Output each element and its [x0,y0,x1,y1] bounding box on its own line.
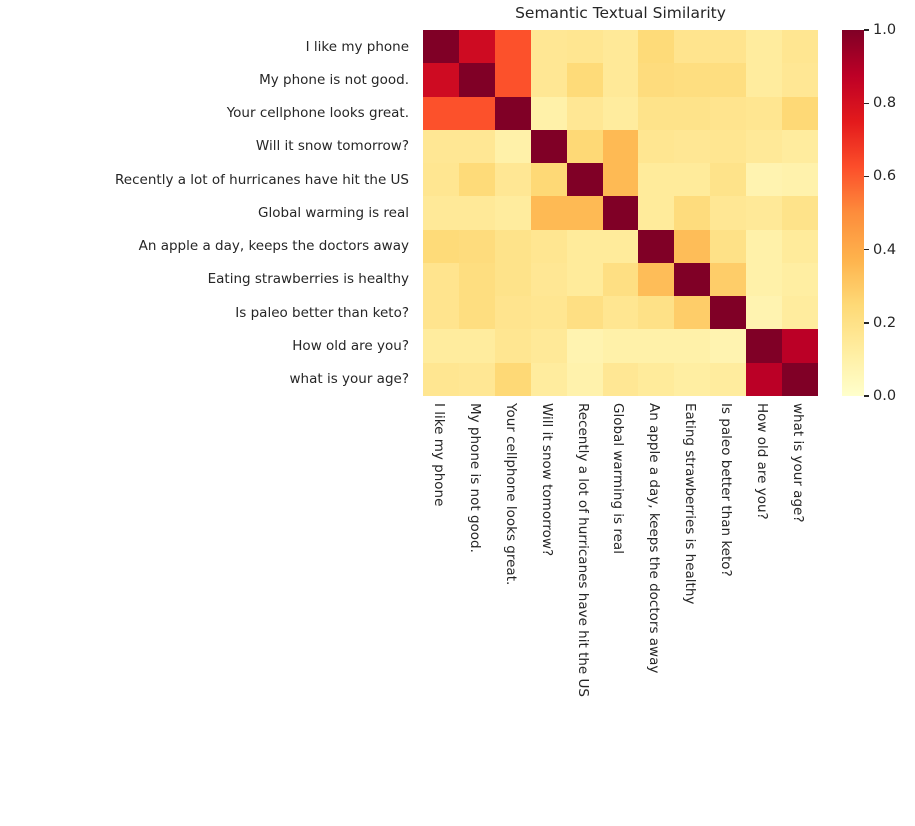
y-axis-tick-label: Global warming is real [0,196,416,229]
heatmap-cell[interactable] [603,163,639,196]
colorbar-tick-mark [864,176,869,177]
heatmap-cell[interactable] [459,30,495,63]
heatmap-cell[interactable] [423,296,459,329]
heatmap-cell[interactable] [531,363,567,396]
y-axis-tick-label: what is your age? [0,363,416,396]
heatmap-cell[interactable] [531,196,567,229]
heatmap-cell[interactable] [567,63,603,96]
y-axis-tick-label: Recently a lot of hurricanes have hit th… [0,163,416,196]
heatmap-cell[interactable] [567,163,603,196]
colorbar-tick-text: 0.6 [873,169,896,183]
heatmap-cell[interactable] [710,30,746,63]
heatmap-cell[interactable] [638,363,674,396]
heatmap-cell[interactable] [603,130,639,163]
heatmap-cell[interactable] [423,63,459,96]
heatmap-cell[interactable] [531,230,567,263]
colorbar-tick-text: 0.4 [873,243,896,257]
heatmap-cell[interactable] [567,363,603,396]
heatmap-cell[interactable] [531,97,567,130]
heatmap-cell[interactable] [782,63,818,96]
heatmap-cell[interactable] [423,97,459,130]
heatmap-cell[interactable] [710,163,746,196]
heatmap-cell[interactable] [710,263,746,296]
heatmap-cell[interactable] [746,363,782,396]
x-axis-tick-slot: An apple a day, keeps the doctors away [638,396,674,596]
heatmap-cell[interactable] [567,296,603,329]
x-axis-tick-slot: Your cellphone looks great. [495,396,531,596]
x-axis-tick-slot: Will it snow tomorrow? [531,396,567,596]
heatmap-cell[interactable] [423,329,459,362]
heatmap-cell[interactable] [746,63,782,96]
heatmap-cell[interactable] [495,163,531,196]
heatmap-cell[interactable] [674,163,710,196]
x-axis-tick-slot: what is your age? [782,396,818,596]
heatmap-cell[interactable] [710,63,746,96]
heatmap-cell[interactable] [531,63,567,96]
heatmap-cell[interactable] [782,130,818,163]
heatmap-cell[interactable] [423,130,459,163]
heatmap-cell[interactable] [531,130,567,163]
colorbar-tick-mark [864,322,869,323]
heatmap-cell[interactable] [567,30,603,63]
heatmap-cell[interactable] [495,97,531,130]
y-axis-tick-label: Eating strawberries is healthy [0,263,416,296]
x-axis-tick-label: Global warming is real [611,403,625,554]
heatmap-cell[interactable] [674,296,710,329]
y-axis-tick-label: Your cellphone looks great. [0,97,416,130]
heatmap-cell[interactable] [746,230,782,263]
y-axis-tick-label: How old are you? [0,329,416,362]
heatmap-cell[interactable] [567,329,603,362]
heatmap-cell[interactable] [459,130,495,163]
colorbar-tick-text: 1.0 [873,23,896,37]
heatmap-cell[interactable] [459,196,495,229]
heatmap-cell[interactable] [674,196,710,229]
heatmap-cell[interactable] [531,163,567,196]
heatmap-cell[interactable] [495,263,531,296]
heatmap-cell[interactable] [531,263,567,296]
colorbar-tick-mark [864,29,869,30]
colorbar-tick-mark [864,395,869,396]
x-axis-tick-label: I like my phone [432,403,446,506]
heatmap-cell[interactable] [638,163,674,196]
x-axis-tick-label: Eating strawberries is healthy [683,403,697,604]
heatmap-cell[interactable] [638,329,674,362]
heatmap-cell[interactable] [710,230,746,263]
heatmap-cell[interactable] [423,363,459,396]
heatmap-cell[interactable] [782,230,818,263]
heatmap-cell[interactable] [567,97,603,130]
chart-title: Semantic Textual Similarity [423,4,818,22]
heatmap-cell[interactable] [423,163,459,196]
heatmap-cell[interactable] [459,163,495,196]
heatmap-cell[interactable] [531,296,567,329]
heatmap-cell[interactable] [782,363,818,396]
heatmap-cell[interactable] [638,196,674,229]
heatmap-cell[interactable] [674,63,710,96]
heatmap-cell[interactable] [782,296,818,329]
x-axis-tick-slot: My phone is not good. [459,396,495,596]
y-axis-tick-label: Is paleo better than keto? [0,296,416,329]
heatmap-cell[interactable] [638,230,674,263]
heatmap-cell[interactable] [459,63,495,96]
heatmap-cell[interactable] [746,196,782,229]
heatmap-cell[interactable] [495,130,531,163]
y-axis-tick-label: Will it snow tomorrow? [0,130,416,163]
x-axis-tick-label: My phone is not good. [468,403,482,553]
heatmap-grid[interactable] [423,30,818,396]
heatmap-cell[interactable] [603,196,639,229]
heatmap-cell[interactable] [782,196,818,229]
x-axis-tick-slot: I like my phone [423,396,459,596]
x-axis-tick-label: Will it snow tomorrow? [540,403,554,556]
heatmap-cell[interactable] [459,230,495,263]
heatmap-cell[interactable] [746,30,782,63]
heatmap-cell[interactable] [423,196,459,229]
x-axis-tick-label: Is paleo better than keto? [719,403,733,577]
x-axis-tick-label: what is your age? [791,403,805,523]
x-axis-tick-label: How old are you? [755,403,769,520]
heatmap-cell[interactable] [782,30,818,63]
y-axis-tick-labels: I like my phoneMy phone is not good.Your… [0,30,416,396]
heatmap-cell[interactable] [782,263,818,296]
heatmap-cell[interactable] [674,30,710,63]
heatmap-cell[interactable] [459,296,495,329]
heatmap-cell[interactable] [495,363,531,396]
heatmap-cell[interactable] [674,263,710,296]
heatmap-cell[interactable] [603,63,639,96]
heatmap-cell[interactable] [638,296,674,329]
heatmap-cell[interactable] [674,97,710,130]
y-axis-tick-label: I like my phone [0,30,416,63]
heatmap-cell[interactable] [567,196,603,229]
heatmap-cell[interactable] [459,97,495,130]
heatmap-cell[interactable] [710,130,746,163]
heatmap-cell[interactable] [710,196,746,229]
heatmap-cell[interactable] [674,329,710,362]
x-axis-tick-slot: Is paleo better than keto? [710,396,746,596]
colorbar-tick-mark [864,103,869,104]
heatmap-cell[interactable] [495,63,531,96]
figure-canvas: Semantic Textual Similarity I like my ph… [0,0,915,826]
heatmap-cell[interactable] [603,97,639,130]
heatmap-cell[interactable] [674,230,710,263]
heatmap-cell[interactable] [495,329,531,362]
heatmap-cell[interactable] [746,329,782,362]
colorbar-tick-mark [864,249,869,250]
heatmap-cell[interactable] [746,97,782,130]
heatmap-cell[interactable] [423,230,459,263]
x-axis-tick-slot: Eating strawberries is healthy [674,396,710,596]
heatmap-cell[interactable] [638,263,674,296]
heatmap-cell[interactable] [603,230,639,263]
colorbar-tick-text: 0.0 [873,389,896,403]
heatmap-cell[interactable] [638,97,674,130]
heatmap-cell[interactable] [495,230,531,263]
heatmap-cell[interactable] [638,63,674,96]
heatmap-cell[interactable] [531,329,567,362]
heatmap-cell[interactable] [495,196,531,229]
x-axis-tick-slot: How old are you? [746,396,782,596]
heatmap-cell[interactable] [782,163,818,196]
y-axis-tick-label: My phone is not good. [0,63,416,96]
y-axis-tick-label: An apple a day, keeps the doctors away [0,230,416,263]
heatmap-cell[interactable] [603,329,639,362]
heatmap-cell[interactable] [495,296,531,329]
x-axis-tick-slot: Global warming is real [603,396,639,596]
heatmap-cell[interactable] [746,163,782,196]
x-axis-tick-slot: Recently a lot of hurricanes have hit th… [567,396,603,596]
colorbar-tick-labels: 0.00.20.40.60.81.0 [864,30,915,396]
heatmap-cell[interactable] [710,97,746,130]
heatmap-cell[interactable] [567,130,603,163]
colorbar[interactable]: 0.00.20.40.60.81.0 [842,30,864,396]
heatmap-cell[interactable] [531,30,567,63]
x-axis-tick-label: Your cellphone looks great. [504,403,518,585]
heatmap-cell[interactable] [782,97,818,130]
heatmap-cell[interactable] [638,30,674,63]
x-axis-tick-label: Recently a lot of hurricanes have hit th… [576,403,590,697]
x-axis-tick-labels: I like my phoneMy phone is not good.Your… [423,396,818,596]
heatmap-cell[interactable] [459,263,495,296]
heatmap-cell[interactable] [746,296,782,329]
x-axis-tick-label: An apple a day, keeps the doctors away [647,403,661,673]
heatmap-cell[interactable] [710,329,746,362]
heatmap-cell[interactable] [603,263,639,296]
heatmap-cell[interactable] [746,130,782,163]
heatmap-cell[interactable] [459,363,495,396]
heatmap-cell[interactable] [603,296,639,329]
heatmap-cell[interactable] [495,30,531,63]
heatmap-cell[interactable] [674,363,710,396]
heatmap-cell[interactable] [674,130,710,163]
heatmap-cell[interactable] [423,30,459,63]
colorbar-tick-text: 0.8 [873,96,896,110]
heatmap-cell[interactable] [423,263,459,296]
heatmap-cell[interactable] [746,263,782,296]
heatmap-cell[interactable] [567,263,603,296]
heatmap-cell[interactable] [567,230,603,263]
heatmap-cell[interactable] [603,30,639,63]
heatmap-cell[interactable] [459,329,495,362]
heatmap-cell[interactable] [710,363,746,396]
colorbar-gradient [842,30,864,396]
heatmap-cell[interactable] [710,296,746,329]
heatmap-cell[interactable] [782,329,818,362]
colorbar-tick-text: 0.2 [873,316,896,330]
heatmap-cell[interactable] [638,130,674,163]
heatmap-cell[interactable] [603,363,639,396]
